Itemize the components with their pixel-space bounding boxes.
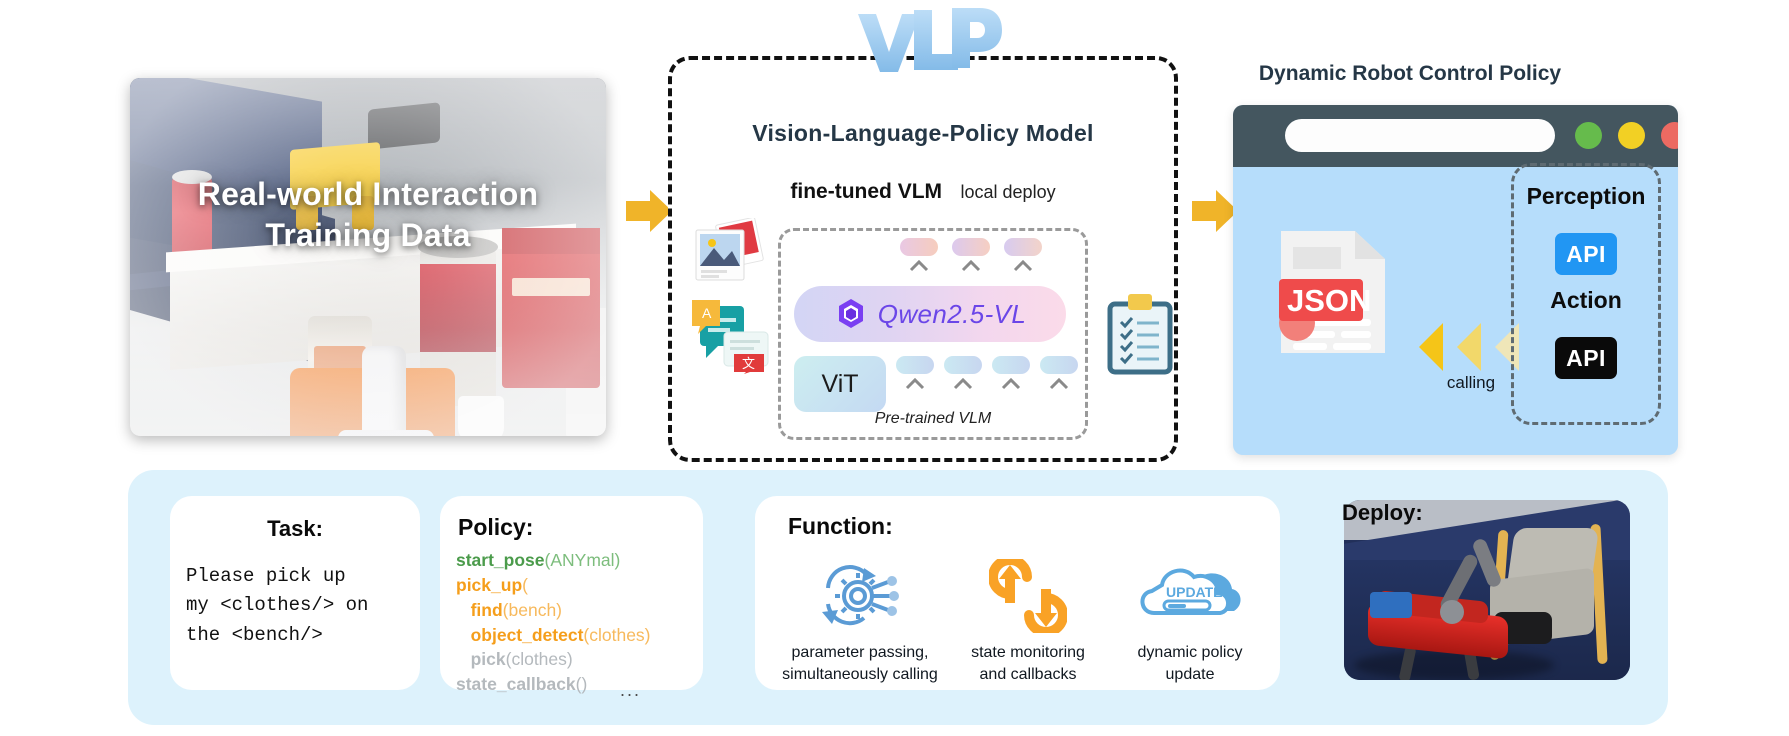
function-2-caption-line-1: state monitoring bbox=[948, 642, 1108, 664]
policy-fn-arg: (bench) bbox=[503, 600, 562, 620]
function-3-caption-line-1: dynamic policy bbox=[1110, 642, 1270, 664]
qwen-logo-icon bbox=[834, 297, 868, 331]
vit-label: ViT bbox=[821, 370, 858, 399]
json-document-icon: JSON bbox=[1277, 227, 1392, 357]
real-world-interaction-photo: Real-world Interaction Training Data bbox=[130, 78, 606, 436]
window-url-bar[interactable] bbox=[1285, 119, 1555, 152]
output-token-3 bbox=[1004, 238, 1042, 256]
policy-fn-name: pick_up bbox=[456, 575, 522, 595]
photo-caption-line-1: Real-world Interaction bbox=[130, 174, 606, 215]
policy-fn-name: find bbox=[471, 600, 503, 620]
deploy-heading: Deploy: bbox=[1342, 500, 1423, 526]
policy-fn-name: object_detect bbox=[471, 625, 584, 645]
function-item-dynamic-policy-update: UPDATE dynamic policy update bbox=[1110, 560, 1270, 685]
chevron-up-icon-2 bbox=[961, 260, 981, 272]
function-heading: Function: bbox=[788, 513, 893, 540]
gear-refresh-nodes-icon bbox=[780, 560, 940, 632]
function-2-caption-line-2: and callbacks bbox=[948, 664, 1108, 686]
vlp-model-title: Vision-Language-Policy Model bbox=[668, 120, 1178, 147]
vlp-logo-icon bbox=[846, 0, 1006, 80]
local-deploy-label: local deploy bbox=[961, 182, 1056, 202]
text-translate-icon: A 文 bbox=[690, 296, 772, 374]
vision-token-1 bbox=[896, 356, 934, 374]
qwen-model-bar: Qwen2.5-VL bbox=[794, 286, 1066, 342]
policy-fn-name: start_pose bbox=[456, 550, 545, 570]
photo-stack-icon bbox=[690, 218, 766, 284]
robot-control-window: JSON calling Perception API Action API bbox=[1233, 105, 1678, 455]
update-badge-label: UPDATE bbox=[1166, 584, 1223, 600]
dynamic-robot-control-policy-title: Dynamic Robot Control Policy bbox=[1230, 62, 1590, 86]
action-label: Action bbox=[1511, 287, 1661, 314]
chevron-up-icon-1 bbox=[909, 260, 929, 272]
task-line-2: my <clothes/> on bbox=[186, 591, 408, 620]
window-dot-green[interactable] bbox=[1575, 122, 1602, 149]
task-heading: Task: bbox=[170, 516, 420, 542]
function-1-caption-line-2: simultaneously calling bbox=[780, 664, 940, 686]
chevron-up-icon-4 bbox=[905, 378, 925, 390]
cloud-update-icon: UPDATE bbox=[1110, 560, 1270, 632]
chevron-up-icon-7 bbox=[1049, 378, 1069, 390]
policy-line-5: pick(clothes) bbox=[456, 647, 706, 672]
svg-text:A: A bbox=[702, 305, 712, 321]
function-item-state-monitoring: state monitoring and callbacks bbox=[948, 560, 1108, 685]
task-line-1: Please pick up bbox=[186, 562, 408, 591]
vision-token-3 bbox=[992, 356, 1030, 374]
arrow-right-icon-1 bbox=[624, 188, 674, 234]
policy-fn-arg: () bbox=[576, 674, 588, 694]
svg-text:文: 文 bbox=[742, 356, 755, 371]
vision-token-4 bbox=[1040, 356, 1078, 374]
up-down-arrows-loop-icon bbox=[948, 560, 1108, 632]
policy-line-6: state_callback() bbox=[456, 672, 706, 697]
policy-fn-arg: (clothes) bbox=[506, 649, 573, 669]
vlp-subtitle-row: fine-tuned VLM local deploy bbox=[668, 180, 1178, 204]
vit-encoder-bar: ViT bbox=[794, 356, 886, 412]
policy-code-body: start_pose(ANYmal)pick_up( find(bench) o… bbox=[456, 548, 706, 697]
window-dot-yellow[interactable] bbox=[1618, 122, 1645, 149]
qwen-model-name: Qwen2.5-VL bbox=[878, 299, 1027, 330]
perception-api-badge[interactable]: API bbox=[1555, 233, 1617, 275]
policy-line-1: start_pose(ANYmal) bbox=[456, 548, 706, 573]
diagram-root: Real-world Interaction Training Data Vis… bbox=[0, 0, 1789, 736]
task-line-3: the <bench/> bbox=[186, 621, 408, 650]
quadruped-robot-deploy-photo bbox=[1344, 500, 1630, 680]
perception-label: Perception bbox=[1511, 183, 1661, 210]
action-api-badge[interactable]: API bbox=[1555, 337, 1617, 379]
policy-line-3: find(bench) bbox=[456, 598, 706, 623]
policy-fn-name: pick bbox=[471, 649, 506, 669]
vision-token-2 bbox=[944, 356, 982, 374]
function-1-caption-line-1: parameter passing, bbox=[780, 642, 940, 664]
policy-heading: Policy: bbox=[458, 514, 533, 541]
photo-caption-line-2: Training Data bbox=[130, 215, 606, 256]
policy-line-4: object_detect(clothes) bbox=[456, 623, 706, 648]
photo-overlay-caption: Real-world Interaction Training Data bbox=[130, 174, 606, 256]
fine-tuned-vlm-label: fine-tuned VLM bbox=[790, 180, 942, 203]
chevron-up-icon-5 bbox=[953, 378, 973, 390]
policy-line-2: pick_up( bbox=[456, 573, 706, 598]
function-3-caption-line-2: update bbox=[1110, 664, 1270, 686]
output-token-1 bbox=[900, 238, 938, 256]
json-label: JSON bbox=[1287, 283, 1371, 318]
pretrained-vlm-label: Pre-trained VLM bbox=[778, 410, 1088, 428]
policy-fn-arg: (ANYmal) bbox=[545, 550, 621, 570]
task-body: Please pick up my <clothes/> on the <ben… bbox=[186, 562, 408, 650]
chevron-up-icon-6 bbox=[1001, 378, 1021, 390]
policy-fn-name: state_callback bbox=[456, 674, 576, 694]
policy-ellipsis: ... bbox=[620, 680, 641, 701]
chevron-up-icon-3 bbox=[1013, 260, 1033, 272]
clipboard-checklist-icon bbox=[1104, 292, 1176, 376]
output-token-2 bbox=[952, 238, 990, 256]
function-item-parameter-passing: parameter passing, simultaneously callin… bbox=[780, 560, 940, 685]
policy-fn-arg: (clothes) bbox=[583, 625, 650, 645]
policy-fn-arg: ( bbox=[522, 575, 528, 595]
